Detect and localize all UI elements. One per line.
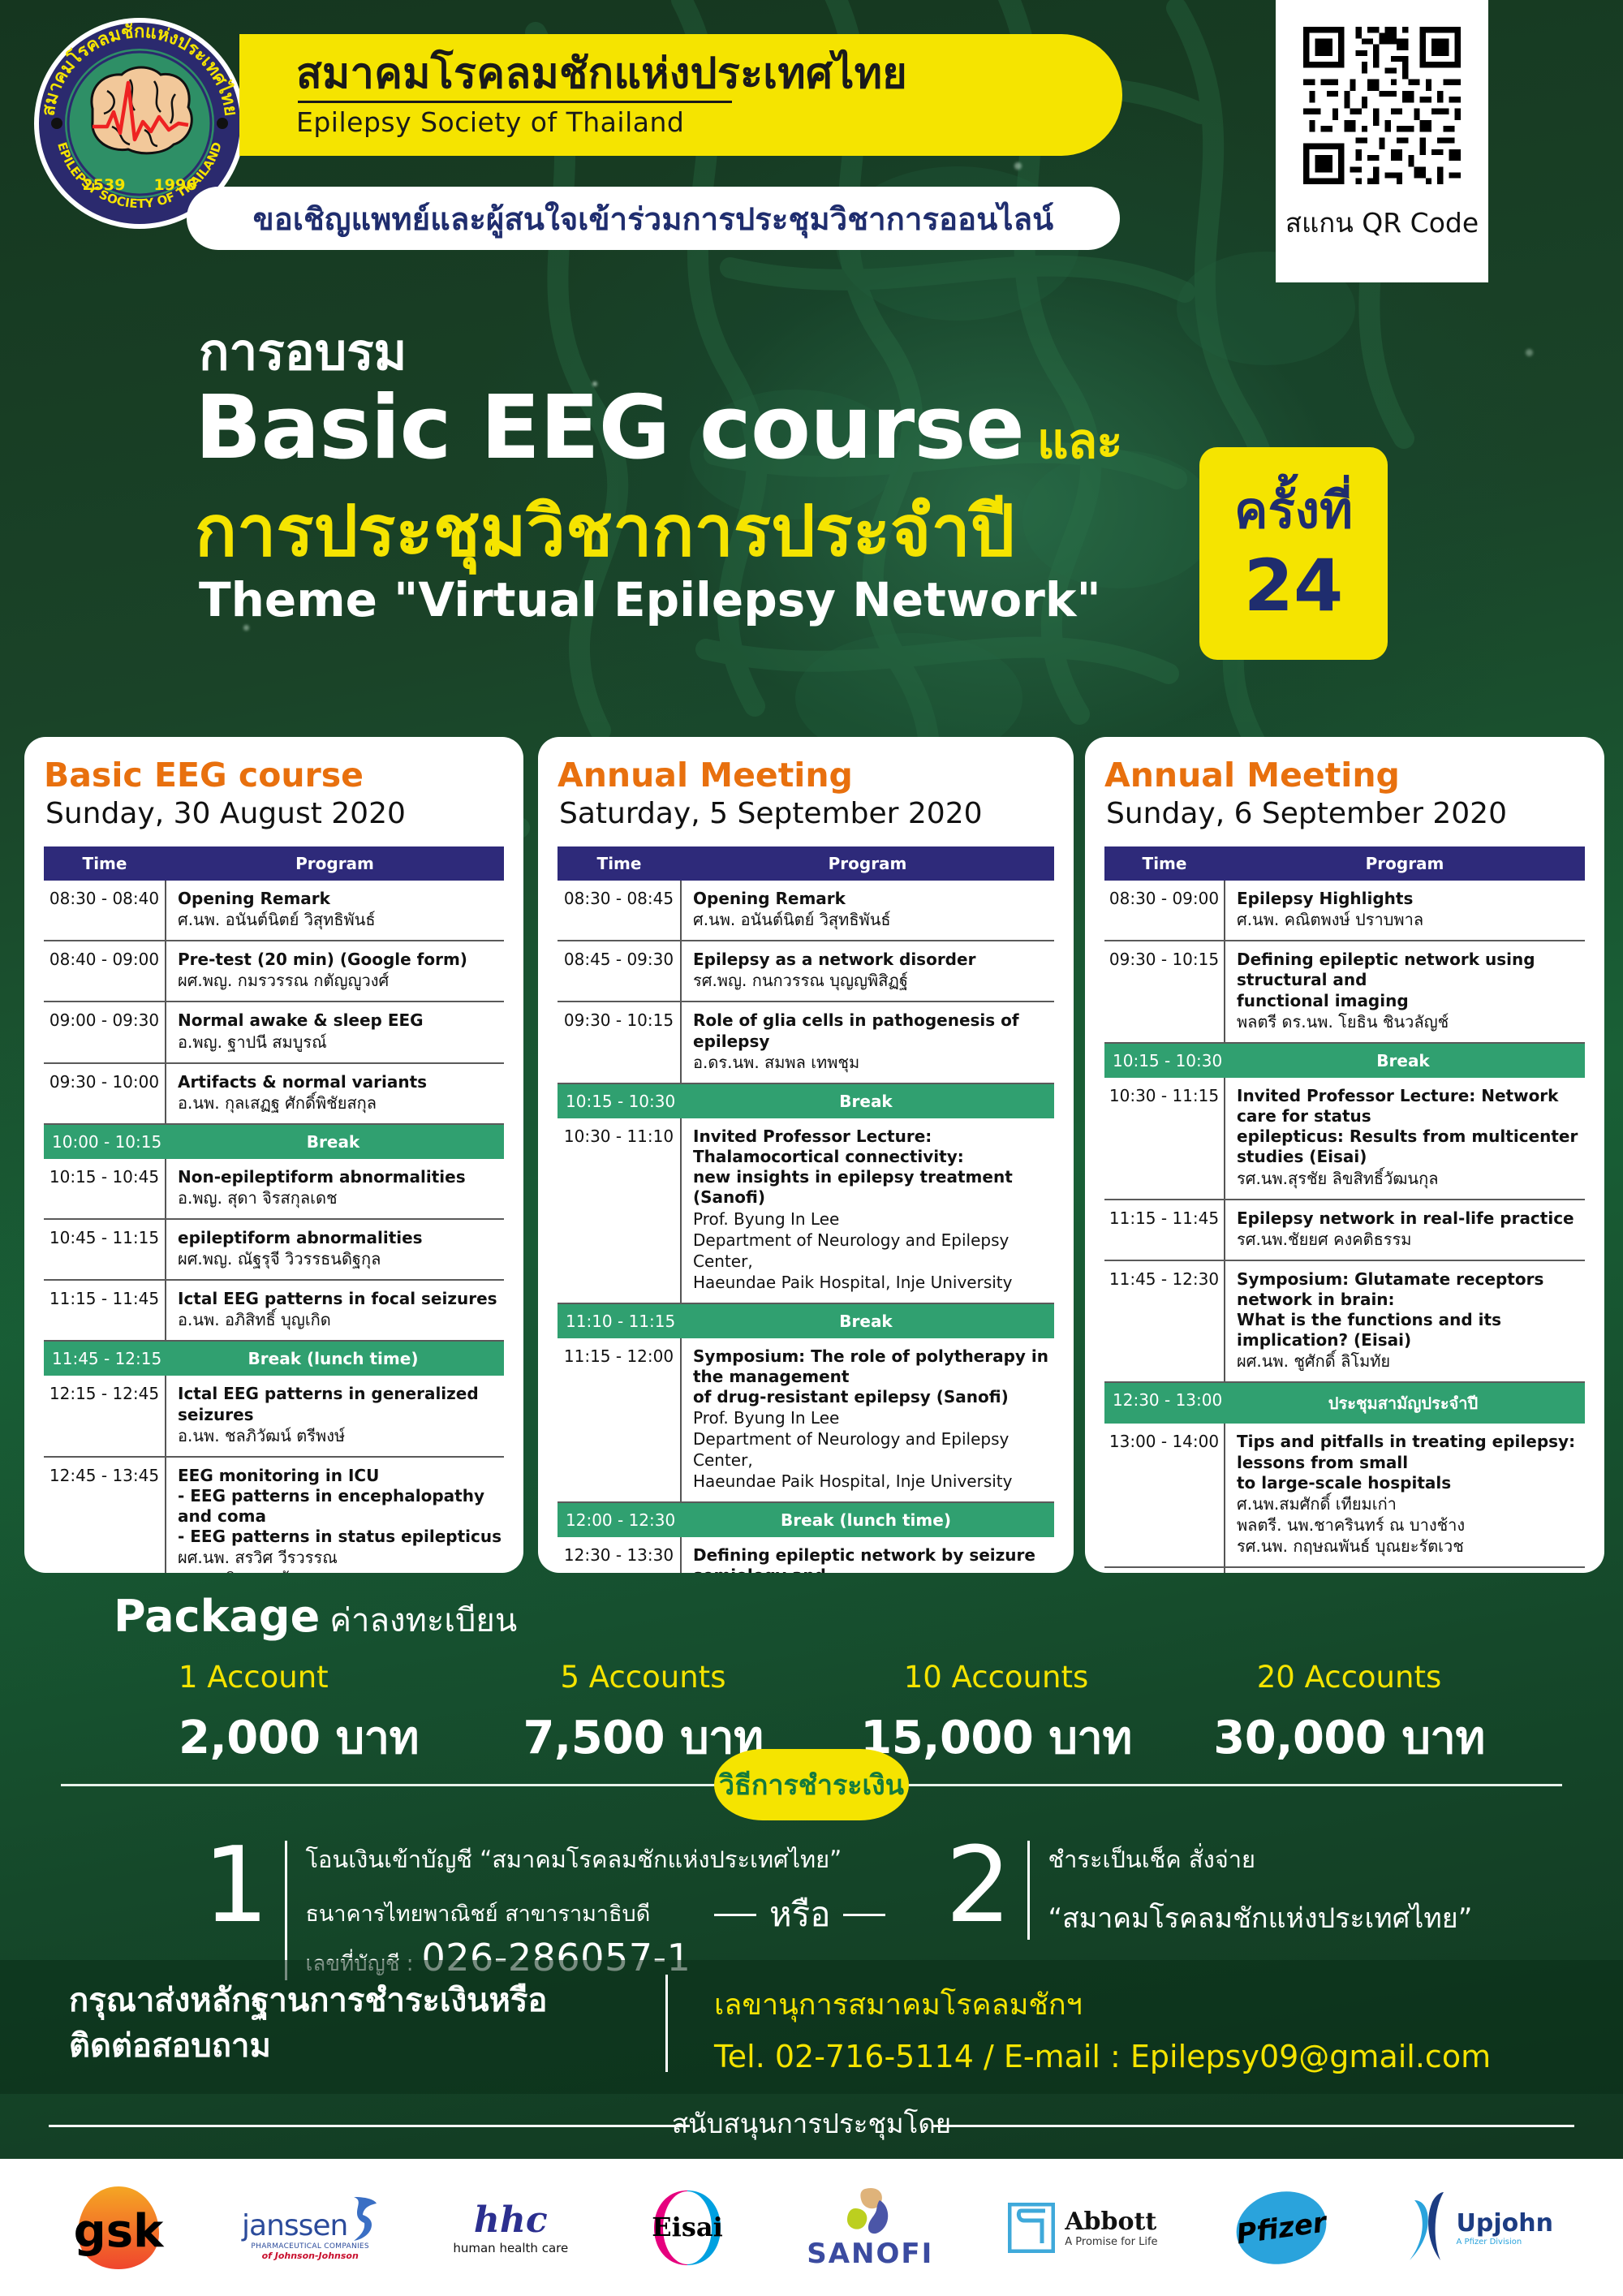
session-speaker: รศ.พญ. กนกวรรณ บุญญพิสิฏฐ์ — [693, 970, 1053, 991]
janssen-subtitle: PHARMACEUTICAL COMPANIES — [251, 2242, 369, 2251]
session-program: Tips and pitfalls in treating epilepsy: … — [1225, 1424, 1585, 1567]
schedule-row: 12:30 - 13:30Defining epileptic network … — [558, 1537, 1054, 1573]
package-tier[interactable]: 20 Accounts 30,000 บาท — [1173, 1660, 1526, 1773]
contact-left: กรุณาส่งหลักฐานการชำระเงินหรือ ติดต่อสอบ… — [69, 1978, 547, 2069]
session-speaker: ผศ.พญ. ณัฐรุจี วิวรรธนดิฐกุล — [178, 1248, 502, 1269]
session-speaker: รศ.นพ.สุรชัย ลิขสิทธิ์วัฒนกุล — [1237, 1168, 1583, 1189]
seal-year-ad: 1996 — [154, 176, 197, 194]
session-title-line: Artifacts & normal variants — [178, 1072, 502, 1092]
break-label: Break — [681, 1083, 1054, 1118]
title-thai: การประชุมวิชาการประจำปี — [195, 475, 1014, 586]
schedule-break-row: 12:00 - 12:30Break (lunch time) — [558, 1502, 1054, 1537]
session-time: 08:40 - 09:00 — [44, 941, 166, 1002]
session-title-line: Ictal EEG patterns in generalized seizur… — [178, 1384, 502, 1424]
seal-year-thai: 2539 — [83, 176, 126, 194]
session-time: 08:30 - 09:00 — [1104, 881, 1225, 941]
session-title-line: epilepticus: Results from multicenter st… — [1237, 1126, 1583, 1167]
sponsor-logo-upjohn: Upjohn A Pfizer Division — [1405, 2183, 1553, 2272]
upjohn-mark-icon — [1405, 2189, 1452, 2267]
schedule-row: 12:15 - 12:45Ictal EEG patterns in gener… — [44, 1376, 504, 1456]
session-time: 11:15 - 11:45 — [44, 1280, 166, 1341]
session-title-line: What is the functions and its implicatio… — [1237, 1310, 1583, 1350]
session-title-line: Symposium: The role of polytherapy in th… — [693, 1346, 1053, 1387]
session-program: Artifacts & normal variantsอ.นพ. กุลเสฏฐ… — [166, 1063, 504, 1124]
contact-tel-email[interactable]: Tel. 02-716-5114 / E-mail : Epilepsy09@g… — [714, 2039, 1491, 2074]
session-time: 09:30 - 10:15 — [1104, 941, 1225, 1043]
schedule-row: 08:40 - 09:00Pre-test (20 min) (Google f… — [44, 941, 504, 1002]
session-program: EEG monitoring in ICU- EEG patterns in e… — [166, 1457, 504, 1573]
tier-price: 2,000 บาท — [179, 1701, 467, 1773]
session-program: Symposium: Glutamate receptors network i… — [1225, 1260, 1585, 1383]
abbott-tagline: A Promise for Life — [1065, 2236, 1157, 2248]
session-program: Role of glia cells in pathogenesis of ep… — [681, 1002, 1054, 1083]
session-speaker: Department of Neurology and Epilepsy Cen… — [693, 1428, 1053, 1471]
session-title-line: Pre-test (20 min) (Google form) — [178, 950, 502, 970]
package-heading-main: Package — [114, 1591, 320, 1642]
payment-option-2-lines: ชำระเป็นเช็ค สั่งจ่าย “สมาคมโรคลมชักแห่ง… — [1048, 1841, 1472, 1940]
session-time: 08:45 - 09:30 — [558, 941, 681, 1002]
schedule-row: 10:45 - 11:15epileptiform abnormalitiesผ… — [44, 1219, 504, 1280]
payment-option-2-line1: ชำระเป็นเช็ค สั่งจ่าย — [1048, 1841, 1472, 1878]
session-program: Defining epileptic network using structu… — [1225, 941, 1585, 1043]
session-speaker: ศ.นพ. อนันต์นิตย์ วิสุทธิพันธ์ — [693, 909, 1053, 930]
session-time: 11:15 - 11:45 — [1104, 1200, 1225, 1260]
invitation-text: ขอเชิญแพทย์และผู้สนใจเข้าร่วมการประชุมวิ… — [253, 194, 1054, 243]
gsk-icon: gsk — [70, 2183, 167, 2272]
session-title-line: Role of glia cells in pathogenesis of ep… — [693, 1010, 1053, 1051]
break-time: 11:10 - 11:15 — [558, 1303, 681, 1338]
schedule-row: 10:15 - 10:45Non-epileptiform abnormalit… — [44, 1159, 504, 1219]
session-title-line: EEG monitoring in ICU — [178, 1466, 502, 1486]
session-program: Ictal EEG patterns in focal seizuresอ.นพ… — [166, 1280, 504, 1341]
payment-option-2: 2 ชำระเป็นเช็ค สั่งจ่าย “สมาคมโรคลมชักแห… — [945, 1841, 1472, 1940]
session-time: 11:45 - 12:30 — [1104, 1260, 1225, 1383]
schedule-row: 11:15 - 11:45Ictal EEG patterns in focal… — [44, 1280, 504, 1341]
contact-left-line1: กรุณาส่งหลักฐานการชำระเงินหรือ — [69, 1978, 547, 2023]
schedule-table: Time Program 08:30 - 08:45Opening Remark… — [558, 846, 1054, 1573]
card-date: Sunday, 30 August 2020 — [45, 797, 504, 830]
session-title-line: epileptiform abnormalities — [178, 1228, 502, 1248]
org-name-rule — [298, 101, 732, 103]
session-time: 12:15 - 12:45 — [44, 1376, 166, 1456]
schedule-row: 09:30 - 10:00Artifacts & normal variants… — [44, 1063, 504, 1124]
abbott-wordmark: Abbott — [1065, 2208, 1157, 2236]
sponsor-logo-abbott: Abbott A Promise for Life — [1008, 2183, 1157, 2272]
sponsor-logo-hhc: hhc human health care — [453, 2183, 568, 2272]
session-time: 09:00 - 09:30 — [44, 1002, 166, 1062]
or-label: หรือ — [769, 1888, 830, 1941]
session-speaker: อ.พญ. สุดา จิรสกุลเดช — [178, 1187, 502, 1208]
tier-label: 5 Accounts — [467, 1660, 820, 1695]
col-header-program: Program — [166, 846, 504, 881]
session-time: 08:30 - 08:40 — [44, 881, 166, 941]
sponsor-logo-gsk: gsk — [70, 2183, 167, 2272]
schedule-row: 08:30 - 09:00Epilepsy Highlightsศ.นพ. คณ… — [1104, 881, 1585, 941]
card-title: Basic EEG course — [44, 758, 504, 793]
schedule-break-row: 11:10 - 11:15Break — [558, 1303, 1054, 1338]
contact-section: กรุณาส่งหลักฐานการชำระเงินหรือ ติดต่อสอบ… — [0, 1960, 1623, 2094]
janssen-mark-icon — [351, 2194, 378, 2242]
schedule-row: 08:45 - 09:30Epilepsy as a network disor… — [558, 941, 1054, 1002]
gsk-wordmark: gsk — [74, 2205, 165, 2258]
sanofi-mark-icon — [837, 2186, 902, 2238]
package-section: Packageค่าลงทะเบียน 1 Account 2,000 บาท … — [0, 1583, 1623, 1826]
session-program: Invited Professor Lecture: Thalamocortic… — [681, 1118, 1054, 1303]
payment-option-1-line1: โอนเงินเข้าบัญชี “สมาคมโรคลมชักแห่งประเท… — [305, 1841, 842, 1878]
schedule-body: 08:30 - 08:45Opening Remarkศ.นพ. อนันต์น… — [558, 881, 1054, 1573]
schedule-card-basic-eeg: Basic EEG course Sunday, 30 August 2020 … — [24, 737, 523, 1573]
schedule-row: 09:30 - 10:15Role of glia cells in patho… — [558, 1002, 1054, 1083]
session-time: 13:00 - 14:00 — [1104, 1424, 1225, 1567]
payment-option-2-number: 2 — [945, 1841, 1027, 1940]
schedule-row: 11:15 - 11:45Epilepsy network in real-li… — [1104, 1200, 1585, 1260]
session-program: Epilepsy Highlightsศ.นพ. คณิตพงษ์ ปราบพา… — [1225, 881, 1585, 941]
hhc-subtitle: human health care — [453, 2241, 568, 2255]
break-label: Break — [166, 1124, 504, 1159]
break-time: 12:00 - 12:30 — [558, 1502, 681, 1537]
session-time: 10:45 - 11:15 — [44, 1219, 166, 1280]
edition-badge: ครั้งที่ 24 — [1199, 447, 1388, 660]
session-program: Symposium: The role of polytherapy in th… — [681, 1338, 1054, 1503]
session-speaker: ศ.นพ.สมศักดิ์ เทียมเก่า — [1237, 1493, 1583, 1514]
session-speaker: ผศ.นพ. สรวิศ วีรวรรณ — [178, 1547, 502, 1568]
schedule-break-row: 10:00 - 10:15Break — [44, 1124, 504, 1159]
poster-header: สมาคมโรคลมชักแห่งประเทศไทย EPILEPSY SOCI… — [0, 0, 1623, 284]
schedule-row: 11:15 - 12:00Symposium: The role of poly… — [558, 1338, 1054, 1503]
tier-label: 1 Account — [179, 1660, 467, 1695]
break-label: Break (lunch time) — [681, 1502, 1054, 1537]
schedule-card-annual-sep6: Annual Meeting Sunday, 6 September 2020 … — [1085, 737, 1604, 1573]
session-program: Opening Remarkศ.นพ. อนันต์นิตย์ วิสุทธิพ… — [681, 881, 1054, 941]
or-line-right — [843, 1914, 885, 1916]
hhc-wordmark: hhc — [474, 2199, 548, 2241]
schedule-body: 08:30 - 08:40Opening Remarkศ.นพ. อนันต์น… — [44, 881, 504, 1573]
payment-section: 1 โอนเงินเข้าบัญชี “สมาคมโรคลมชักแห่งประ… — [0, 1826, 1623, 1956]
session-program: epileptiform abnormalitiesผศ.พญ. ณัฐรุจี… — [166, 1219, 504, 1280]
session-speaker: รศ.นพ.ชัยยศ คงคติธรรม — [1237, 1229, 1583, 1250]
col-header-program: Program — [1225, 846, 1585, 881]
schedule-row: 13:00 - 14:00Tips and pitfalls in treati… — [1104, 1424, 1585, 1567]
session-program: Non-epileptiform abnormalitiesอ.พญ. สุดา… — [166, 1159, 504, 1219]
session-time: 09:30 - 10:15 — [558, 1002, 681, 1083]
upjohn-wordmark: Upjohn — [1457, 2209, 1553, 2238]
contact-divider — [665, 1975, 668, 2072]
schedule-cards: Basic EEG course Sunday, 30 August 2020 … — [0, 737, 1623, 1573]
session-speaker: Haeundae Paik Hospital, Inje University — [693, 1272, 1053, 1293]
session-program: Defining epileptic network by seizure se… — [681, 1537, 1054, 1573]
col-header-time: Time — [1104, 846, 1225, 881]
pfizer-icon: Pfizer — [1233, 2189, 1330, 2267]
schedule-table: Time Program 08:30 - 08:40Opening Remark… — [44, 846, 504, 1573]
session-title-line: Symposium: Glutamate receptors network i… — [1237, 1269, 1583, 1310]
package-heading-sub: ค่าลงทะเบียน — [329, 1602, 517, 1639]
session-title-line: - EEG patterns in status epilepticus — [178, 1527, 502, 1547]
session-speaker: พลตรี. นพ.ชาครินทร์ ณ บางช้าง — [1237, 1514, 1583, 1536]
session-title-line: Opening Remark — [693, 889, 1053, 909]
session-title-line: Non-epileptiform abnormalities — [178, 1167, 502, 1187]
session-time: 12:30 - 13:30 — [558, 1537, 681, 1573]
abbott-mark-icon — [1008, 2203, 1055, 2253]
col-header-time: Time — [558, 846, 681, 881]
org-name-thai: สมาคมโรคลมชักแห่งประเทศไทย — [296, 52, 1122, 97]
break-time: 10:15 - 10:30 — [1104, 1043, 1225, 1078]
session-title-line: Opening Remark — [178, 889, 502, 909]
session-program: Opening Remarkศ.นพ. อนันต์นิตย์ วิสุทธิพ… — [166, 881, 504, 941]
qr-code-label: สแกน QR Code — [1285, 201, 1479, 244]
session-program: Normal awake & sleep EEGอ.พญ. ฐาปนี สมบู… — [166, 1002, 504, 1062]
edition-badge-label: ครั้งที่ — [1234, 485, 1353, 536]
payment-method-chip: วิธีการชำระเงิน — [714, 1749, 909, 1820]
contact-right: เลขานุการสมาคมโรคลมชักฯ Tel. 02-716-5114… — [714, 1981, 1491, 2074]
upjohn-tagline: A Pfizer Division — [1457, 2238, 1553, 2246]
session-speaker: ศ.นพ. อนันต์นิตย์ วิสุทธิพันธ์ — [178, 909, 502, 930]
schedule-break-row: 12:30 - 13:00ประชุมสามัญประจำปี — [1104, 1382, 1585, 1424]
package-heading: Packageค่าลงทะเบียน — [114, 1591, 517, 1646]
session-title-line: to large-scale hospitals — [1237, 1473, 1583, 1493]
session-speaker: Department of Neurology and Epilepsy Cen… — [693, 1230, 1053, 1272]
janssen-parent: of Johnson-Johnson — [262, 2251, 359, 2261]
break-label: ประชุมสามัญประจำปี — [1225, 1382, 1585, 1424]
schedule-row: 10:30 - 11:15Invited Professor Lecture: … — [1104, 1078, 1585, 1200]
col-header-time: Time — [44, 846, 166, 881]
col-header-program: Program — [681, 846, 1054, 881]
session-title-line: Invited Professor Lecture: Thalamocortic… — [693, 1126, 1053, 1167]
break-time: 10:00 - 10:15 — [44, 1124, 166, 1159]
title-theme: Theme "Virtual Epilepsy Network" — [199, 572, 1101, 627]
sanofi-wordmark: SANOFI — [807, 2238, 933, 2270]
sponsor-divider: สนับสนุนการประชุมโดย — [0, 2094, 1623, 2159]
payment-option-2-line2: “สมาคมโรคลมชักแห่งประเทศไทย” — [1048, 1896, 1472, 1940]
session-program: Epilepsy network in real-life practiceรศ… — [1225, 1200, 1585, 1260]
invitation-banner: ขอเชิญแพทย์และผู้สนใจเข้าร่วมการประชุมวิ… — [187, 187, 1120, 250]
org-name-english: Epilepsy Society of Thailand — [296, 106, 1122, 138]
schedule-table: Time Program 08:30 - 09:00Epilepsy Highl… — [1104, 846, 1585, 1573]
break-label: Break — [681, 1303, 1054, 1338]
session-title-line: Invited Professor Lecture: Network care … — [1237, 1086, 1583, 1126]
tier-price: 30,000 บาท — [1173, 1701, 1526, 1773]
schedule-row: 11:45 - 12:30Symposium: Glutamate recept… — [1104, 1260, 1585, 1383]
session-title-line: functional imaging — [1237, 991, 1583, 1011]
card-title: Annual Meeting — [1104, 758, 1585, 793]
janssen-wordmark: janssen — [242, 2209, 347, 2242]
session-time: 10:30 - 11:10 — [558, 1118, 681, 1303]
session-time: 12:45 - 13:45 — [44, 1457, 166, 1573]
card-date: Sunday, 6 September 2020 — [1106, 797, 1585, 830]
session-speaker: อ.นพ. ทิพากร ตุ้มนาค — [178, 1568, 502, 1573]
break-label: Break — [1225, 1043, 1585, 1078]
schedule-row: 08:30 - 08:45Opening Remarkศ.นพ. อนันต์น… — [558, 881, 1054, 941]
session-title-line: Defining epileptic network using structu… — [1237, 950, 1583, 990]
sponsor-logo-janssen: janssen PHARMACEUTICAL COMPANIES of John… — [242, 2183, 378, 2272]
session-program: Ictal EEG patterns in generalized seizur… — [166, 1376, 504, 1456]
session-speaker: พลตรี ดร.นพ. โยธิน ชินวลัญช์ — [1237, 1011, 1583, 1032]
schedule-row: 10:30 - 11:10Invited Professor Lecture: … — [558, 1118, 1054, 1303]
tier-label: 10 Accounts — [820, 1660, 1173, 1695]
schedule-break-row: 11:45 - 12:15Break (lunch time) — [44, 1341, 504, 1376]
session-title-line: of drug-resistant epilepsy (Sanofi) — [693, 1387, 1053, 1407]
schedule-row: 12:45 - 13:45EEG monitoring in ICU- EEG … — [44, 1457, 504, 1573]
session-program: Epilepsy as a network disorderรศ.พญ. กนก… — [681, 941, 1054, 1002]
eisai-wordmark: Eisai — [652, 2212, 722, 2242]
sponsor-logos: gsk janssen PHARMACEUTICAL COMPANIES of … — [0, 2159, 1623, 2296]
payment-method-chip-label: วิธีการชำระเงิน — [719, 1763, 904, 1807]
card-date: Saturday, 5 September 2020 — [559, 797, 1054, 830]
schedule-row: 09:30 - 10:15Defining epileptic network … — [1104, 941, 1585, 1043]
schedule-break-row: 10:15 - 10:30Break — [1104, 1043, 1585, 1078]
session-speaker: อ.ดร.นพ. สมพล เทพชุม — [693, 1052, 1053, 1073]
poster-root: สมาคมโรคลมชักแห่งประเทศไทย EPILEPSY SOCI… — [0, 0, 1623, 2296]
title-block: การอบรม Basic EEG courseและ การประชุมวิช… — [0, 288, 1623, 702]
session-speaker: Prof. Byung In Lee — [693, 1407, 1053, 1428]
title-main: Basic EEG course — [195, 377, 1024, 479]
session-speaker: ผศ.นพ. ชูศักดิ์ ลิโมทัย — [1237, 1350, 1583, 1372]
session-time: 09:30 - 10:00 — [44, 1063, 166, 1124]
sponsor-logo-eisai: Eisai — [643, 2183, 732, 2272]
session-time: 11:15 - 12:00 — [558, 1338, 681, 1503]
session-title-line: new insights in epilepsy treatment (Sano… — [693, 1167, 1053, 1208]
title-and: และ — [1037, 413, 1122, 470]
sponsor-logo-pfizer: Pfizer — [1233, 2183, 1330, 2272]
package-tier[interactable]: 1 Account 2,000 บาท — [114, 1660, 467, 1773]
session-time: 14:00 - 15:00 — [1104, 1567, 1225, 1573]
break-time: 10:15 - 10:30 — [558, 1083, 681, 1118]
session-program: Pre-test (20 min) (Google form)ผศ.พญ. กม… — [166, 941, 504, 1002]
session-title-line: Epilepsy Highlights — [1237, 889, 1583, 909]
session-speaker: Prof. Byung In Lee — [693, 1208, 1053, 1230]
contact-secretary: เลขานุการสมาคมโรคลมชักฯ — [714, 1981, 1491, 2027]
payment-option-2-rule — [1027, 1841, 1030, 1940]
session-title-line: Epilepsy network in real-life practice — [1237, 1208, 1583, 1229]
schedule-card-annual-sep5: Annual Meeting Saturday, 5 September 202… — [538, 737, 1074, 1573]
title-main-row: Basic EEG courseและ — [195, 377, 1121, 480]
tier-label: 20 Accounts — [1173, 1660, 1526, 1695]
qr-code-icon[interactable] — [1298, 21, 1466, 190]
session-title-line: Defining epileptic network by seizure se… — [693, 1545, 1053, 1573]
session-speaker: ศ.นพ. คณิตพงษ์ ปราบพาล — [1237, 909, 1583, 930]
schedule-row: 14:00 - 15:00New technologies in epileps… — [1104, 1567, 1585, 1573]
sponsor-divider-label: สนับสนุนการประชุมโดย — [0, 2102, 1623, 2145]
schedule-row: 09:00 - 09:30Normal awake & sleep EEGอ.พ… — [44, 1002, 504, 1062]
sponsor-logo-sanofi: SANOFI — [807, 2183, 933, 2272]
session-title-line: Normal awake & sleep EEG — [178, 1010, 502, 1031]
break-label: Break (lunch time) — [166, 1341, 504, 1376]
schedule-break-row: 10:15 - 10:30Break — [558, 1083, 1054, 1118]
schedule-body: 08:30 - 09:00Epilepsy Highlightsศ.นพ. คณ… — [1104, 881, 1585, 1573]
session-program: Invited Professor Lecture: Network care … — [1225, 1078, 1585, 1200]
qr-code-card[interactable]: สแกน QR Code — [1276, 0, 1488, 282]
session-speaker: ผศ.พญ. กมรวรรณ กตัญญูวงศ์ — [178, 970, 502, 991]
session-time: 10:30 - 11:15 — [1104, 1078, 1225, 1200]
session-speaker: Haeundae Paik Hospital, Inje University — [693, 1471, 1053, 1492]
session-time: 10:15 - 10:45 — [44, 1159, 166, 1219]
session-time: 08:30 - 08:45 — [558, 881, 681, 941]
org-name-banner: สมาคมโรคลมชักแห่งประเทศไทย Epilepsy Soci… — [239, 34, 1122, 156]
eisai-icon: Eisai — [643, 2189, 732, 2267]
session-title-line: Tips and pitfalls in treating epilepsy: … — [1237, 1432, 1583, 1472]
or-line-left — [714, 1914, 756, 1916]
session-speaker: รศ.นพ. กฤษณพันธ์ บุณยะรัตเวช — [1237, 1536, 1583, 1557]
session-speaker: อ.นพ. กุลเสฏฐ ศักดิ์พิชัยสกุล — [178, 1092, 502, 1114]
session-title-line: - EEG patterns in encephalopathy and com… — [178, 1486, 502, 1527]
schedule-row: 08:30 - 08:40Opening Remarkศ.นพ. อนันต์น… — [44, 881, 504, 941]
edition-badge-number: 24 — [1244, 550, 1343, 622]
session-speaker: อ.นพ. อภิสิทธิ์ บุญเกิด — [178, 1309, 502, 1330]
card-title: Annual Meeting — [558, 758, 1054, 793]
session-title-line: Epilepsy as a network disorder — [693, 950, 1053, 970]
session-speaker: อ.นพ. ชลภิวัฒน์ ตรีพงษ์ — [178, 1425, 502, 1446]
contact-left-line2: ติดต่อสอบถาม — [69, 2023, 547, 2069]
session-program: New technologies in epilepsy treatment: … — [1225, 1567, 1585, 1573]
session-speaker: อ.พญ. ฐาปนี สมบูรณ์ — [178, 1032, 502, 1053]
break-time: 11:45 - 12:15 — [44, 1341, 166, 1376]
break-time: 12:30 - 13:00 — [1104, 1382, 1225, 1424]
session-title-line: Ictal EEG patterns in focal seizures — [178, 1289, 502, 1309]
payment-or-separator: หรือ — [714, 1888, 885, 1941]
